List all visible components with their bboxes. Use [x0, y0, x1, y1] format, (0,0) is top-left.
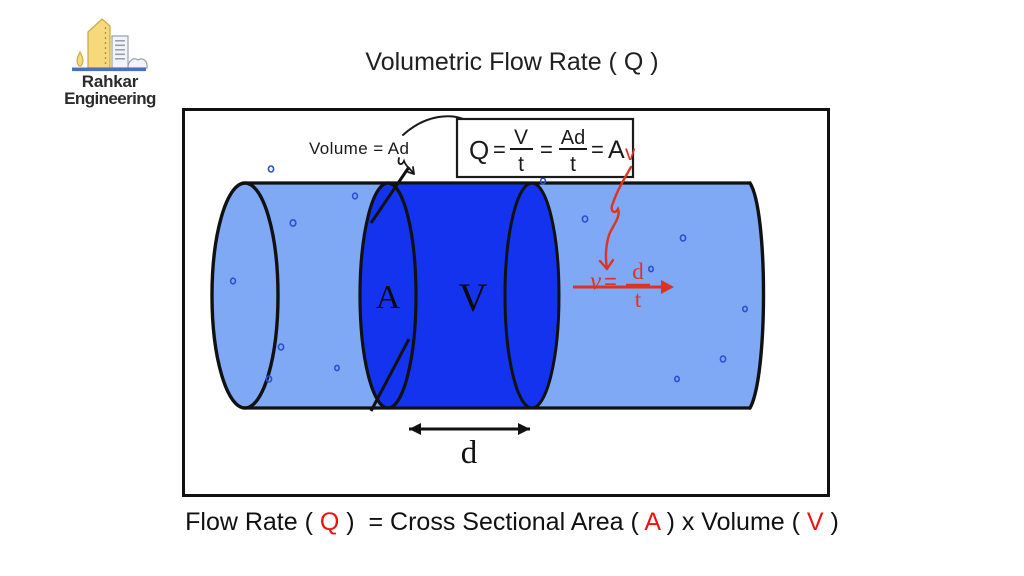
caption-part-4: )	[824, 508, 839, 536]
svg-text:=: =	[604, 269, 617, 294]
svg-text:=: =	[540, 137, 553, 162]
distance-dimension: d	[409, 423, 530, 471]
svg-text:=: =	[591, 137, 604, 162]
svg-text:t: t	[518, 153, 524, 176]
caption-part-3: ) x Volume (	[660, 508, 807, 536]
svg-text:v: v	[590, 268, 602, 295]
label-distance: d	[461, 435, 478, 471]
label-volume: V	[459, 275, 488, 320]
svg-text:Ad: Ad	[561, 127, 585, 149]
svg-text:Volume = Ad: Volume = Ad	[309, 139, 409, 158]
caption-symbol-a: A	[644, 508, 659, 536]
label-area: A	[376, 279, 401, 316]
slide-canvas: Rahkar Engineering Volumetric Flow Rate …	[0, 0, 1024, 576]
svg-text:A: A	[608, 136, 625, 164]
handwritten-volume-formula: Volume = Ad	[309, 139, 414, 174]
figure-frame: A V d Volume = Ad	[182, 108, 830, 497]
caption: Flow Rate ( Q ) = Cross Sectional Area (…	[0, 508, 1024, 537]
caption-symbol-v: V	[807, 508, 824, 536]
svg-text:Q: Q	[469, 135, 489, 165]
boxed-formula: Q = V t = Ad t = A v	[457, 119, 636, 177]
svg-text:t: t	[635, 287, 642, 312]
page-title: Volumetric Flow Rate ( Q )	[0, 48, 1024, 77]
caption-part-1: Flow Rate (	[185, 508, 320, 536]
caption-part-2: ) = Cross Sectional Area (	[339, 508, 644, 536]
svg-text:V: V	[514, 126, 528, 149]
svg-text:d: d	[632, 259, 644, 284]
svg-text:t: t	[570, 153, 576, 176]
svg-text:=: =	[493, 137, 506, 162]
svg-text:v: v	[625, 142, 636, 165]
caption-symbol-q: Q	[320, 508, 339, 536]
logo-line-2: Engineering	[40, 90, 180, 107]
logo-text: Rahkar Engineering	[40, 73, 180, 108]
